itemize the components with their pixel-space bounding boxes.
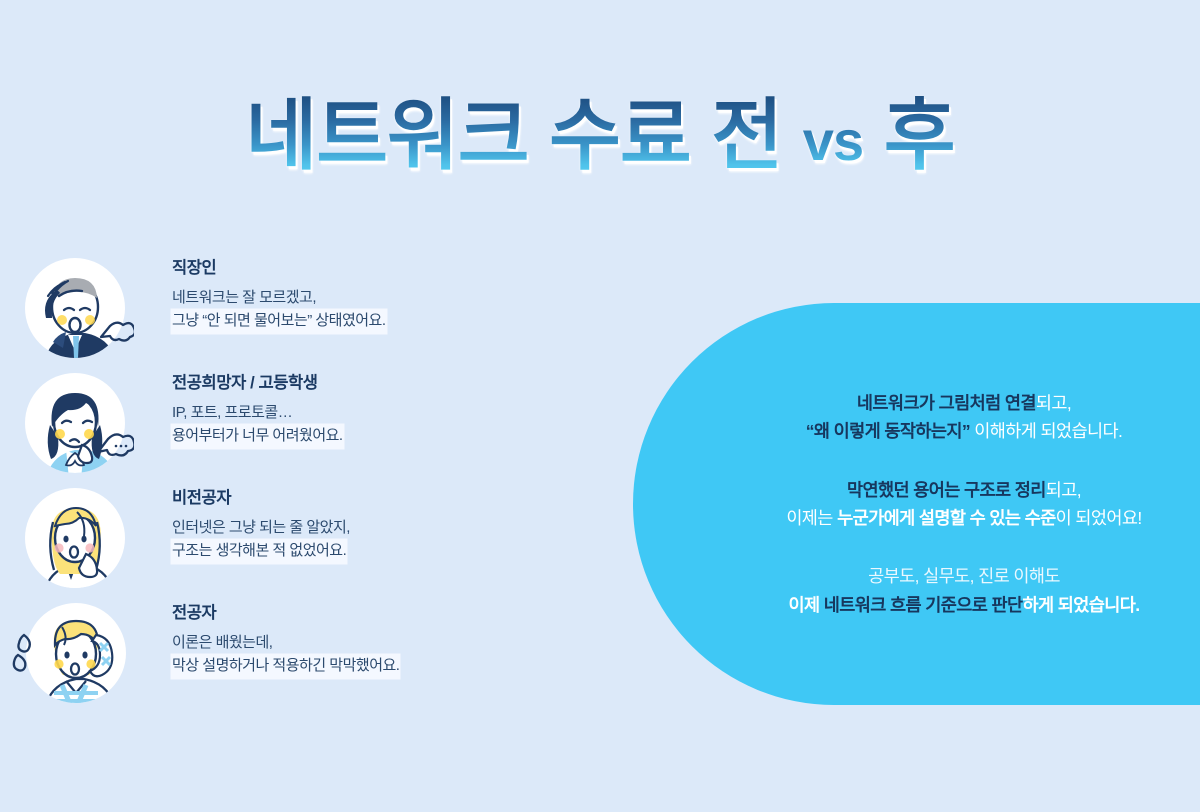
infographic-page: 네트워크 수료 전 vs 후 (0, 0, 1200, 812)
after-block-2-line-1: 막연했던 용어는 구조로 정리되고, (728, 476, 1200, 504)
list-item: 전공자 이론은 배웠는데, 막상 설명하거나 적용하긴 막막했어요. (0, 595, 620, 710)
person-line-2: 용어부터가 너무 어려웠어요. (172, 425, 343, 448)
person-line-1: 인터넷은 그냥 되는 줄 알았지, (172, 517, 602, 540)
list-item: 비전공자 인터넷은 그냥 되는 줄 알았지, 구조는 생각해본 적 없었어요. (0, 480, 620, 595)
person-title: 비전공자 (172, 484, 602, 508)
title-main: 네트워크 수료 전 (245, 91, 802, 179)
person-text: 직장인 네트워크는 잘 모르겠고, 그냥 “안 되면 물어보는” 상태였어요. (172, 254, 602, 333)
after-panel: 네트워크가 그림처럼 연결되고, “왜 이렇게 동작하는지” 이해하게 되었습니… (633, 303, 1200, 705)
person-title: 직장인 (172, 254, 602, 278)
after-block-2-line-2: 이제는 누군가에게 설명할 수 있는 수준이 되었어요! (728, 504, 1200, 532)
person-title: 전공자 (172, 599, 602, 623)
female-student-navy-hair-avatar (22, 367, 134, 479)
person-line-1: 이론은 배웠는데, (172, 632, 602, 655)
office-worker-gray-hair-avatar (22, 252, 134, 364)
person-line-1: 네트워크는 잘 모르겠고, (172, 287, 602, 310)
person-line-1: IP, 포트, 프로토콜… (172, 402, 602, 425)
before-section: 직장인 네트워크는 잘 모르겠고, 그냥 “안 되면 물어보는” 상태였어요. (0, 250, 620, 710)
person-line-2: 그냥 “안 되면 물어보는” 상태였어요. (172, 310, 386, 333)
after-block-1-line-2: “왜 이렇게 동작하는지” 이해하게 되었습니다. (728, 417, 1200, 445)
person-line-2: 막상 설명하거나 적용하긴 막막했어요. (172, 655, 399, 678)
list-item: 직장인 네트워크는 잘 모르겠고, 그냥 “안 되면 물어보는” 상태였어요. (0, 250, 620, 365)
person-text: 전공희망자 / 고등학생 IP, 포트, 프로토콜… 용어부터가 너무 어려웠어… (172, 369, 602, 448)
after-block-1: 네트워크가 그림처럼 연결되고, “왜 이렇게 동작하는지” 이해하게 되었습니… (728, 389, 1200, 446)
title-vs: vs (803, 109, 863, 172)
blonde-male-student-avatar (10, 597, 122, 709)
person-line-2: 구조는 생각해본 적 없었어요. (172, 540, 346, 563)
person-text: 비전공자 인터넷은 그냥 되는 줄 알았지, 구조는 생각해본 적 없었어요. (172, 484, 602, 563)
title-text: 네트워크 수료 전 vs 후 (245, 96, 954, 174)
after-panel-content: 네트워크가 그림처럼 연결되고, “왜 이렇게 동작하는지” 이해하게 되었습니… (728, 303, 1200, 705)
after-block-1-line-1: 네트워크가 그림처럼 연결되고, (728, 389, 1200, 417)
list-item: 전공희망자 / 고등학생 IP, 포트, 프로토콜… 용어부터가 너무 어려웠어… (0, 365, 620, 480)
title-after: 후 (863, 91, 954, 179)
after-block-3: 공부도, 실무도, 진로 이해도 이제 네트워크 흐름 기준으로 판단하게 되었… (728, 562, 1200, 619)
blonde-woman-avatar (22, 482, 134, 594)
person-text: 전공자 이론은 배웠는데, 막상 설명하거나 적용하긴 막막했어요. (172, 599, 602, 678)
after-block-3-line-1: 공부도, 실무도, 진로 이해도 (728, 562, 1200, 590)
page-title: 네트워크 수료 전 vs 후 (0, 96, 1200, 174)
after-block-2: 막연했던 용어는 구조로 정리되고, 이제는 누군가에게 설명할 수 있는 수준… (728, 476, 1200, 533)
after-block-3-line-2: 이제 네트워크 흐름 기준으로 판단하게 되었습니다. (728, 591, 1200, 619)
person-title: 전공희망자 / 고등학생 (172, 369, 602, 393)
